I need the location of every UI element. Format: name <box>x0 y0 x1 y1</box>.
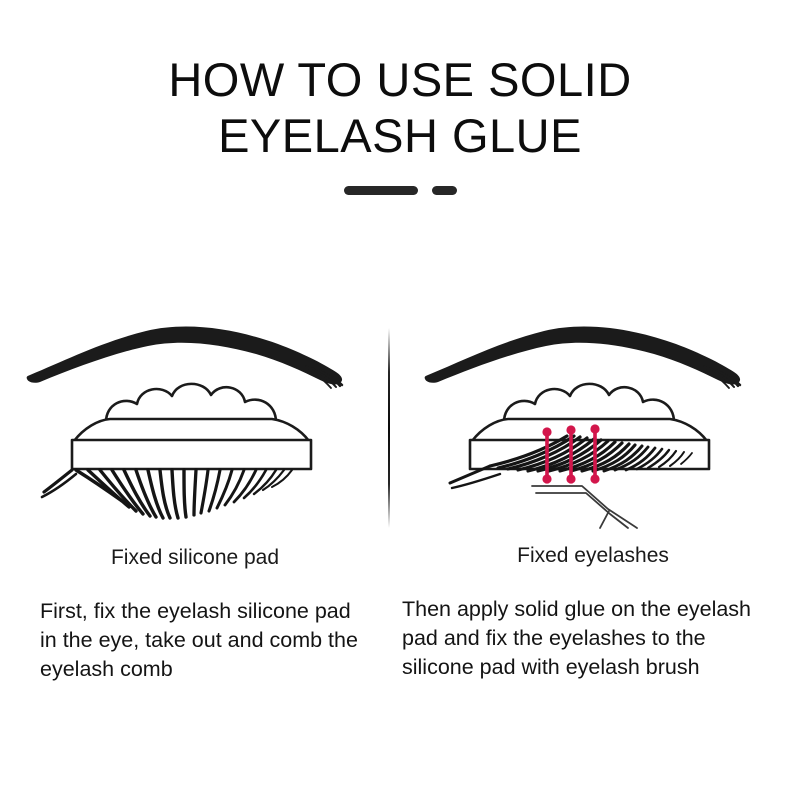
step-2-illustration <box>404 300 794 580</box>
title-line-2: EYELASH GLUE <box>0 108 800 164</box>
eye-with-silicone-pad-art <box>6 300 396 530</box>
panel-divider <box>388 328 390 528</box>
title-divider <box>0 186 800 195</box>
poster-canvas: HOW TO USE SOLID EYELASH GLUE <box>0 0 800 800</box>
step-1-description: First, fix the eyelash silicone pad in t… <box>40 597 370 684</box>
step-2-caption: Fixed eyelashes <box>398 543 788 569</box>
eyebrow-icon <box>425 327 740 388</box>
page-title: HOW TO USE SOLID EYELASH GLUE <box>0 52 800 164</box>
eyelashes-icon <box>42 470 292 518</box>
step-1-caption: Fixed silicone pad <box>0 545 390 571</box>
eyebrow-icon <box>27 327 342 388</box>
step-2-description: Then apply solid glue on the eyelash pad… <box>402 595 777 682</box>
eye-with-glue-and-tweezers-art <box>404 300 794 530</box>
step-1-illustration <box>6 300 396 580</box>
tweezers-icon <box>532 486 637 528</box>
divider-dash-long-icon <box>344 186 418 195</box>
divider-dash-short-icon <box>432 186 457 195</box>
title-line-1: HOW TO USE SOLID <box>0 52 800 108</box>
silicone-pad-icon <box>72 384 311 469</box>
steps-illustrations <box>0 300 800 580</box>
